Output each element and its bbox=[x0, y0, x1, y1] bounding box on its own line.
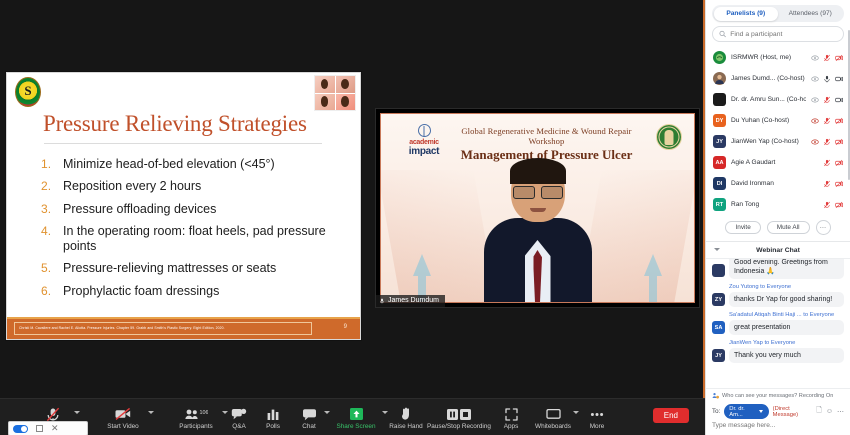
whiteboards-button[interactable]: Whiteboards bbox=[528, 402, 578, 434]
background-wing bbox=[578, 170, 695, 302]
participant-icons bbox=[823, 180, 843, 188]
chat-message-sender: Zou Yutong to Everyone bbox=[729, 284, 844, 290]
participant-name-text: James Dumd... (Co-host) bbox=[731, 75, 805, 82]
slide-bullet: Minimize head-of-bed elevation (<45°) bbox=[41, 157, 346, 172]
chevron-down-icon bbox=[759, 410, 763, 413]
background-arrow-icon bbox=[644, 254, 662, 276]
pause-stop-recording-button[interactable]: Pause/Stop Recording bbox=[424, 402, 494, 434]
slide-bullet: Reposition every 2 hours bbox=[41, 179, 346, 194]
participant-count: 106 bbox=[200, 410, 209, 416]
clinical-photo bbox=[315, 94, 335, 111]
speaker-name-label: James Dumdum bbox=[376, 295, 445, 307]
chat-message: JY JianWen Yap to Everyone Thank you ver… bbox=[712, 340, 844, 363]
popup-close-icon[interactable]: ✕ bbox=[51, 424, 59, 433]
meeting-toolbar: Unmute Start Video 106 bbox=[0, 398, 705, 435]
chat-input-actions: 🗋 ☺ ⋯ bbox=[816, 406, 844, 417]
raise-hand-label: Raise Hand bbox=[389, 423, 422, 430]
participant-icons bbox=[823, 201, 843, 209]
participant-name: Dr. dr. Amru Sun... (Co-host) bbox=[731, 96, 806, 103]
direct-message-label: (Direct Message) bbox=[773, 406, 813, 418]
background-wing bbox=[380, 170, 497, 302]
file-attach-icon[interactable]: 🗋 bbox=[816, 406, 822, 417]
participant-row[interactable]: AA Agie A Gaudart bbox=[710, 152, 846, 173]
qa-label: Q&A bbox=[232, 423, 246, 430]
background-arrow-icon bbox=[413, 254, 431, 276]
presenter-figure bbox=[484, 160, 592, 302]
more-options-icon[interactable]: ⋯ bbox=[837, 408, 844, 416]
speaker-name-text: James Dumdum bbox=[388, 297, 439, 304]
participant-icons bbox=[811, 138, 843, 146]
banner-text: Global Regenerative Medicine & Wound Rep… bbox=[453, 126, 640, 163]
start-video-label: Start Video bbox=[107, 423, 139, 430]
view-eye-icon[interactable] bbox=[811, 96, 819, 104]
emoji-icon[interactable]: ☺ bbox=[826, 408, 833, 415]
participant-actions: Invite Mute All ··· bbox=[706, 215, 850, 242]
microphone-icon[interactable] bbox=[823, 75, 831, 83]
microphone-muted-icon[interactable] bbox=[823, 96, 831, 104]
microphone-muted-icon[interactable] bbox=[823, 159, 831, 167]
chat-message-body: Sa'adatul Atiqah Binti Haji ... to Every… bbox=[729, 312, 844, 335]
participant-row[interactable]: RT Ran Tong bbox=[710, 194, 846, 215]
avatar: JY bbox=[712, 349, 725, 362]
chat-privacy-notice[interactable]: Who can see your messages? Recording On bbox=[706, 388, 850, 402]
chat-message: SA Sa'adatul Atiqah Binti Haji ... to Ev… bbox=[712, 312, 844, 335]
camera-off-icon[interactable] bbox=[835, 159, 843, 167]
clinical-photo bbox=[315, 76, 335, 93]
meeting-stage: Pressure Relieving Strategies Minimize h… bbox=[0, 0, 705, 398]
participant-name: James Dumd... (Co-host) bbox=[731, 75, 806, 82]
slide-bullet-list: Minimize head-of-bed elevation (<45°) Re… bbox=[41, 157, 346, 306]
whiteboards-caret-icon[interactable] bbox=[573, 411, 579, 414]
avatar bbox=[713, 93, 726, 106]
participant-name: JianWen Yap (Co-host) bbox=[731, 138, 806, 145]
microphone-muted-icon bbox=[45, 407, 61, 422]
camera-off-icon[interactable] bbox=[835, 180, 843, 188]
chat-message-sender: Sa'adatul Atiqah Binti Haji ... to Every… bbox=[729, 312, 844, 318]
chat-message-text: Good evening. Greetings from Indonesia 🙏 bbox=[729, 259, 844, 279]
participants-button[interactable]: 106 Participants bbox=[170, 402, 222, 434]
audio-settings-popup[interactable]: ✕ bbox=[8, 421, 88, 435]
chevron-down-icon[interactable] bbox=[714, 248, 720, 251]
participant-icons bbox=[811, 117, 843, 125]
video-options-caret-icon[interactable] bbox=[148, 411, 154, 414]
microphone-muted-icon[interactable] bbox=[823, 180, 831, 188]
speaker-video-tile[interactable]: academic impact Global Regenerative Medi… bbox=[375, 108, 700, 308]
audio-options-caret-icon[interactable] bbox=[74, 411, 80, 414]
search-participant-field[interactable] bbox=[712, 26, 844, 42]
chat-label: Chat bbox=[302, 423, 316, 430]
share-screen-label: Share Screen bbox=[336, 423, 375, 430]
participant-name: Ran Tong bbox=[731, 201, 818, 208]
microphone-muted-icon[interactable] bbox=[823, 54, 831, 62]
microphone-muted-icon[interactable] bbox=[823, 117, 831, 125]
chat-message-sender: JianWen Yap to Everyone bbox=[729, 340, 844, 346]
camera-off-icon[interactable] bbox=[835, 96, 843, 104]
microphone-icon bbox=[379, 298, 385, 304]
slide-footer: Christi M. Cavaliere and Rachel E. Aliot… bbox=[7, 317, 360, 339]
view-eye-icon[interactable] bbox=[811, 75, 819, 83]
microphone-muted-icon[interactable] bbox=[823, 138, 831, 146]
avatar bbox=[713, 72, 726, 85]
mute-all-button[interactable]: Mute All bbox=[767, 221, 810, 234]
chat-message-text: Thank you very much bbox=[729, 348, 844, 363]
avatar: AA bbox=[713, 156, 726, 169]
chat-message-input[interactable] bbox=[706, 420, 850, 435]
participants-icon: 106 bbox=[184, 407, 208, 422]
slide-title: Pressure Relieving Strategies bbox=[43, 111, 307, 137]
chat-recipient-row: To: Dr. dr. Am... (Direct Message) 🗋 ☺ ⋯ bbox=[706, 402, 850, 420]
polls-label: Polls bbox=[266, 423, 280, 430]
invite-button[interactable]: Invite bbox=[725, 221, 760, 234]
participant-row[interactable]: James Dumd... (Co-host) bbox=[710, 68, 846, 89]
participant-row[interactable]: ISRMWR (Host, me) bbox=[710, 47, 846, 68]
share-screen-icon bbox=[349, 407, 364, 422]
clinical-photo bbox=[336, 76, 356, 93]
un-academic-impact-logo: academic impact bbox=[397, 124, 451, 157]
camera-off-icon[interactable] bbox=[835, 138, 843, 146]
record-controls-icon bbox=[446, 407, 472, 422]
share-screen-button[interactable]: Share Screen bbox=[330, 402, 382, 434]
presenter-hair bbox=[510, 158, 566, 184]
apps-button[interactable]: Apps bbox=[494, 402, 528, 434]
zoom-webinar-window: Pressure Relieving Strategies Minimize h… bbox=[0, 0, 850, 435]
chat-button[interactable]: Chat bbox=[292, 402, 326, 434]
raise-hand-button[interactable]: Raise Hand bbox=[384, 402, 428, 434]
search-icon bbox=[719, 30, 726, 38]
slide-page-number: 9 bbox=[344, 324, 347, 330]
whiteboard-icon bbox=[546, 407, 561, 422]
chat-icon bbox=[302, 407, 317, 422]
participant-row[interactable]: DY Du Yuhan (Co-host) bbox=[710, 110, 846, 131]
more-dots-icon bbox=[589, 407, 605, 422]
chat-header-title: Webinar Chat bbox=[756, 247, 800, 254]
slide-bullet: In the operating room: float heels, pad … bbox=[41, 224, 346, 255]
clinical-photo-grid bbox=[314, 75, 356, 111]
participant-name: Du Yuhan (Co-host) bbox=[731, 117, 806, 124]
participant-icons bbox=[811, 54, 843, 62]
banner-subtitle: Global Regenerative Medicine & Wound Rep… bbox=[453, 126, 640, 146]
avatar bbox=[712, 264, 725, 277]
avatar: JY bbox=[713, 135, 726, 148]
pause-stop-recording-label: Pause/Stop Recording bbox=[427, 423, 491, 430]
info-people-icon bbox=[712, 392, 719, 399]
camera-off-icon[interactable] bbox=[835, 75, 843, 83]
participant-more-button[interactable]: ··· bbox=[816, 220, 831, 235]
camera-off-icon[interactable] bbox=[835, 54, 843, 62]
participant-icons bbox=[823, 159, 843, 167]
chat-message-body: Zou Yutong to Everyone thanks Dr Yap for… bbox=[729, 284, 844, 307]
participant-name: Agie A Gaudart bbox=[731, 159, 818, 166]
chat-message-text: great presentation bbox=[729, 320, 844, 335]
apps-icon bbox=[505, 407, 518, 422]
participants-label: Participants bbox=[179, 423, 212, 430]
chat-message-text: thanks Dr Yap for good sharing! bbox=[729, 292, 844, 307]
side-panel: Panelists (9) Attendees (97) ISRMWR (Hos… bbox=[705, 0, 850, 435]
slide-citation: Christi M. Cavaliere and Rachel E. Aliot… bbox=[14, 322, 312, 335]
popup-toggle-switch[interactable] bbox=[13, 425, 28, 433]
logo-line-2: impact bbox=[397, 147, 451, 157]
camera-off-icon[interactable] bbox=[835, 201, 843, 209]
more-button[interactable]: More bbox=[580, 402, 614, 434]
chat-message-body: JianWen Yap to Everyone Thank you very m… bbox=[729, 340, 844, 363]
chat-message: ZY Zou Yutong to Everyone thanks Dr Yap … bbox=[712, 284, 844, 307]
virtual-background: academic impact Global Regenerative Medi… bbox=[380, 113, 695, 303]
participant-icons bbox=[811, 96, 843, 104]
camera-off-icon[interactable] bbox=[835, 117, 843, 125]
slide-divider bbox=[44, 143, 322, 144]
shared-slide[interactable]: Pressure Relieving Strategies Minimize h… bbox=[6, 72, 361, 340]
qa-button[interactable]: Q&A bbox=[222, 402, 256, 434]
search-input[interactable] bbox=[730, 31, 837, 38]
polls-icon bbox=[266, 407, 280, 422]
institution-logo-icon bbox=[15, 77, 41, 107]
view-eye-icon[interactable] bbox=[811, 117, 819, 125]
slide-bullet: Prophylactic foam dressings bbox=[41, 284, 346, 299]
chat-header[interactable]: Webinar Chat bbox=[706, 242, 850, 259]
chat-to-label: To: bbox=[712, 408, 720, 415]
start-video-button[interactable]: Start Video bbox=[96, 402, 150, 434]
participant-list-scrollbar[interactable] bbox=[848, 30, 850, 180]
clinical-photo bbox=[336, 94, 356, 111]
chat-recipient-value: Dr. dr. Am... bbox=[729, 406, 755, 418]
view-eye-icon[interactable] bbox=[811, 138, 819, 146]
more-label: More bbox=[590, 423, 605, 430]
participant-row[interactable]: DI David Ironman bbox=[710, 173, 846, 194]
avatar bbox=[713, 51, 726, 64]
qa-icon bbox=[231, 407, 247, 422]
chat-recipient-select[interactable]: Dr. dr. Am... bbox=[724, 404, 768, 419]
raise-hand-icon bbox=[400, 407, 412, 422]
slide-bullet: Pressure offloading devices bbox=[41, 202, 346, 217]
whiteboards-label: Whiteboards bbox=[535, 423, 571, 430]
participant-list: ISRMWR (Host, me) James Dumd... (Co-host… bbox=[706, 47, 850, 215]
presenter-mouth bbox=[530, 208, 546, 212]
participant-row[interactable]: JY JianWen Yap (Co-host) bbox=[710, 131, 846, 152]
view-eye-icon[interactable] bbox=[811, 54, 819, 62]
chat-messages[interactable]: Good evening. Greetings from Indonesia 🙏… bbox=[706, 259, 850, 388]
microphone-muted-icon[interactable] bbox=[823, 201, 831, 209]
polls-button[interactable]: Polls bbox=[256, 402, 290, 434]
end-button[interactable]: End bbox=[653, 408, 689, 423]
tab-attendees[interactable]: Attendees (97) bbox=[778, 7, 843, 21]
participant-row[interactable]: Dr. dr. Amru Sun... (Co-host) bbox=[710, 89, 846, 110]
avatar: SA bbox=[712, 321, 725, 334]
chat-message-body: Good evening. Greetings from Indonesia 🙏 bbox=[729, 259, 844, 279]
un-emblem-icon bbox=[418, 124, 431, 137]
avatar: RT bbox=[713, 198, 726, 211]
avatar: DI bbox=[713, 177, 726, 190]
chat-privacy-text: Who can see your messages? Recording On bbox=[722, 393, 833, 399]
slide-bullet: Pressure-relieving mattresses or seats bbox=[41, 261, 346, 276]
participant-icons bbox=[811, 75, 843, 83]
participant-name: David Ironman bbox=[731, 180, 818, 187]
organization-seal-icon bbox=[656, 124, 682, 150]
chat-message: Good evening. Greetings from Indonesia 🙏 bbox=[712, 259, 844, 279]
popup-square-icon[interactable] bbox=[36, 425, 43, 432]
avatar: DY bbox=[713, 114, 726, 127]
avatar: ZY bbox=[712, 293, 725, 306]
video-muted-icon bbox=[114, 407, 132, 422]
panel-tabs: Panelists (9) Attendees (97) bbox=[712, 5, 844, 22]
presenter-glasses-icon bbox=[513, 186, 563, 197]
participant-name: ISRMWR (Host, me) bbox=[731, 54, 806, 61]
apps-label: Apps bbox=[504, 423, 519, 430]
tab-panelists[interactable]: Panelists (9) bbox=[714, 7, 779, 21]
